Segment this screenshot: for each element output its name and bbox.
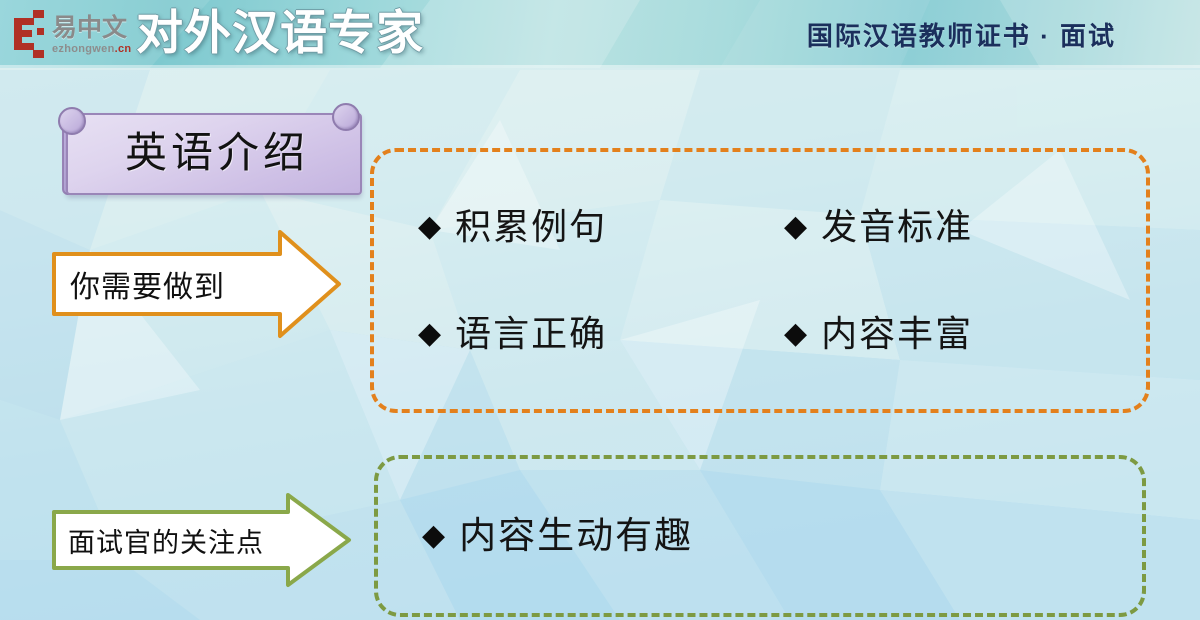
diamond-bullet-icon: ◆ <box>418 319 443 349</box>
bullet-label: 发音标准 <box>821 209 973 245</box>
arrow-label-you-need-to-do: 你需要做到 <box>70 228 225 340</box>
ezhongwen-logo-icon <box>12 10 48 58</box>
header-right-title: 国际汉语教师证书 · 面试 <box>807 0 1116 68</box>
brand-logo[interactable]: 易中文 ezhongwen.cn <box>8 4 138 62</box>
scroll-banner: 英语介绍 <box>58 113 358 195</box>
scroll-banner-body: 英语介绍 <box>66 113 362 195</box>
scroll-banner-label: 英语介绍 <box>119 133 309 175</box>
bullet-list-interviewer-focus: ◆ 内容生动有趣 <box>374 455 1146 617</box>
logo-url-suffix: .cn <box>115 43 132 55</box>
bullet-item: ◆ 语言正确 <box>418 316 784 352</box>
bullet-item: ◆ 内容生动有趣 <box>422 518 693 555</box>
header-bar: 易中文 ezhongwen.cn 对外汉语专家 国际汉语教师证书 · 面试 <box>0 0 1200 68</box>
bullet-grid-you-need-to-do: ◆ 积累例句 ◆ 发音标准 ◆ 语言正确 ◆ 内容丰富 <box>370 148 1150 413</box>
arrow-you-need-to-do: 你需要做到 <box>52 228 342 340</box>
logo-chinese-text: 易中文 <box>52 16 127 41</box>
bullet-label: 积累例句 <box>455 209 607 245</box>
arrow-interviewer-focus: 面试官的关注点 <box>52 492 352 588</box>
diamond-bullet-icon: ◆ <box>422 521 447 551</box>
brand-title: 对外汉语专家 <box>136 1 424 65</box>
scroll-curl-right-icon <box>332 103 360 131</box>
bullet-label: 内容丰富 <box>821 316 973 352</box>
slide-canvas: 易中文 ezhongwen.cn 对外汉语专家 国际汉语教师证书 · 面试 英语… <box>0 0 1200 620</box>
diamond-bullet-icon: ◆ <box>784 319 809 349</box>
scroll-curl-left-icon <box>58 107 86 135</box>
diamond-bullet-icon: ◆ <box>784 212 809 242</box>
bullet-item: ◆ 积累例句 <box>418 209 784 245</box>
diamond-bullet-icon: ◆ <box>418 212 443 242</box>
bullet-item: ◆ 内容丰富 <box>784 316 1150 352</box>
logo-url-base: ezhongwen <box>52 43 115 55</box>
arrow-label-interviewer-focus: 面试官的关注点 <box>68 492 264 588</box>
logo-url-text: ezhongwen.cn <box>52 44 131 55</box>
bullet-label: 语言正确 <box>455 316 607 352</box>
bullet-item: ◆ 发音标准 <box>784 209 1150 245</box>
bullet-label: 内容生动有趣 <box>459 518 693 555</box>
